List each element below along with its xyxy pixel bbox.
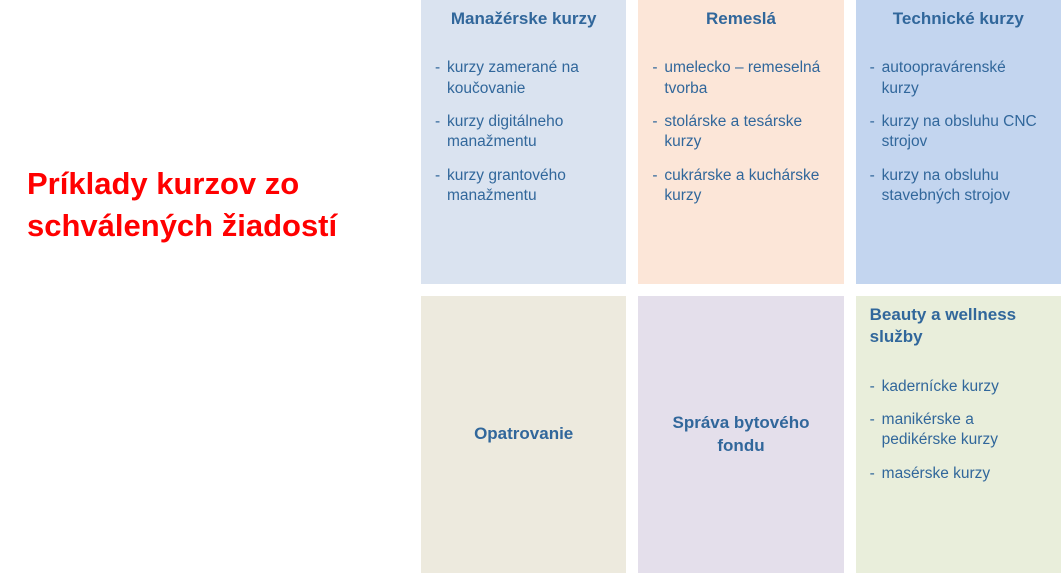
- category-card-beauty-a-wellness-sluzby[interactable]: Beauty a wellness služby-kadernícke kurz…: [856, 296, 1061, 573]
- category-card-content: Manažérske kurzy-kurzy zamerané na koučo…: [421, 0, 626, 284]
- course-list-item: -autoopravárenské kurzy: [870, 58, 1047, 99]
- category-card-content: Opatrovanie: [421, 296, 626, 573]
- course-list: -kadernícke kurzy-manikérske a pedikérsk…: [870, 377, 1047, 484]
- course-list-item: -cukrárske a kuchárske kurzy: [652, 166, 829, 207]
- course-label: stolárske a tesárske kurzy: [664, 113, 802, 150]
- course-list-item: -kurzy zamerané na koučovanie: [435, 58, 612, 99]
- course-list-item: -kurzy grantového manažmentu: [435, 166, 612, 207]
- course-category-grid: Manažérske kurzy-kurzy zamerané na koučo…: [421, 0, 1061, 573]
- course-list-item: -kurzy digitálneho manažmentu: [435, 112, 612, 153]
- course-label: autoopravárenské kurzy: [882, 59, 1006, 96]
- bullet-dash-icon: -: [435, 58, 440, 78]
- bullet-dash-icon: -: [652, 112, 657, 132]
- bullet-dash-icon: -: [870, 410, 875, 430]
- course-label: masérske kurzy: [882, 465, 991, 482]
- category-card-title: Technické kurzy: [870, 8, 1047, 30]
- course-label: cukrárske a kuchárske kurzy: [664, 167, 819, 204]
- page-title: Príklady kurzov zo schválených žiadostí: [27, 163, 397, 246]
- category-card-content: Správa bytového fondu: [638, 296, 843, 573]
- category-card-title: Beauty a wellness služby: [870, 304, 1047, 349]
- category-card-content: Remeslá-umelecko – remeselná tvorba-stol…: [638, 0, 843, 284]
- bullet-dash-icon: -: [870, 58, 875, 78]
- course-list: -umelecko – remeselná tvorba-stolárske a…: [652, 58, 829, 206]
- course-label: kurzy zamerané na koučovanie: [447, 59, 579, 96]
- course-list: -kurzy zamerané na koučovanie-kurzy digi…: [435, 58, 612, 206]
- course-label: kadernícke kurzy: [882, 378, 999, 395]
- category-card-content: Technické kurzy-autoopravárenské kurzy-k…: [856, 0, 1061, 284]
- category-card-title: Opatrovanie: [435, 423, 612, 445]
- course-list: -autoopravárenské kurzy-kurzy na obsluhu…: [870, 58, 1047, 206]
- category-card-title: Manažérske kurzy: [435, 8, 612, 30]
- course-label: kurzy na obsluhu stavebných strojov: [882, 167, 1010, 204]
- category-card-sprava-bytoveho-fondu[interactable]: Správa bytového fondu: [638, 296, 843, 573]
- bullet-dash-icon: -: [870, 166, 875, 186]
- category-card-title: Remeslá: [652, 8, 829, 30]
- bullet-dash-icon: -: [870, 377, 875, 397]
- course-label: umelecko – remeselná tvorba: [664, 59, 820, 96]
- bullet-dash-icon: -: [652, 166, 657, 186]
- bullet-dash-icon: -: [870, 112, 875, 132]
- course-list-item: -kadernícke kurzy: [870, 377, 1047, 397]
- category-card-title: Správa bytového fondu: [652, 412, 829, 457]
- bullet-dash-icon: -: [870, 464, 875, 484]
- course-list-item: -stolárske a tesárske kurzy: [652, 112, 829, 153]
- category-card-content: Beauty a wellness služby-kadernícke kurz…: [856, 296, 1061, 573]
- slide-canvas: Príklady kurzov zo schválených žiadostí …: [0, 0, 1061, 573]
- course-label: manikérske a pedikérske kurzy: [882, 411, 998, 448]
- course-label: kurzy na obsluhu CNC strojov: [882, 113, 1037, 150]
- category-card-technicke-kurzy[interactable]: Technické kurzy-autoopravárenské kurzy-k…: [856, 0, 1061, 284]
- bullet-dash-icon: -: [652, 58, 657, 78]
- category-card-opatrovanie[interactable]: Opatrovanie: [421, 296, 626, 573]
- bullet-dash-icon: -: [435, 166, 440, 186]
- course-label: kurzy grantového manažmentu: [447, 167, 566, 204]
- course-list-item: -umelecko – remeselná tvorba: [652, 58, 829, 99]
- category-card-manazerske-kurzy[interactable]: Manažérske kurzy-kurzy zamerané na koučo…: [421, 0, 626, 284]
- course-list-item: -masérske kurzy: [870, 464, 1047, 484]
- course-list-item: -kurzy na obsluhu stavebných strojov: [870, 166, 1047, 207]
- course-list-item: -kurzy na obsluhu CNC strojov: [870, 112, 1047, 153]
- course-list-item: -manikérske a pedikérske kurzy: [870, 410, 1047, 451]
- category-card-remesla[interactable]: Remeslá-umelecko – remeselná tvorba-stol…: [638, 0, 843, 284]
- bullet-dash-icon: -: [435, 112, 440, 132]
- course-label: kurzy digitálneho manažmentu: [447, 113, 563, 150]
